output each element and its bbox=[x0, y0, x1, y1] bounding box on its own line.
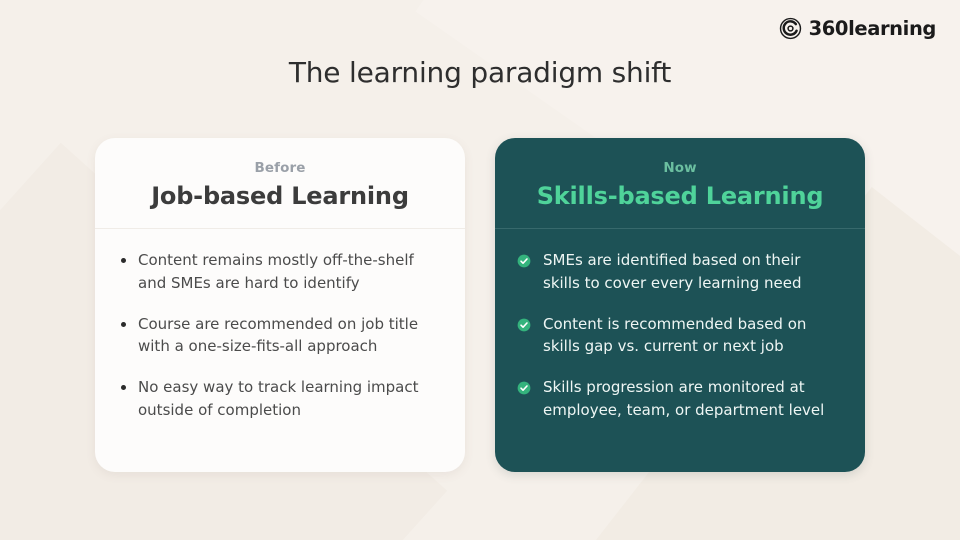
list-item: Skills progression are monitored at empl… bbox=[517, 376, 841, 422]
card-now-eyebrow: Now bbox=[515, 160, 845, 176]
logo-wordmark: 360learning bbox=[809, 19, 936, 39]
list-item: Content remains mostly off-the-shelf and… bbox=[117, 249, 441, 295]
card-before-eyebrow: Before bbox=[115, 160, 445, 176]
page-title: The learning paradigm shift bbox=[0, 56, 960, 89]
card-before-bullet-list: Content remains mostly off-the-shelf and… bbox=[117, 249, 441, 422]
bullet-dot-icon bbox=[121, 258, 126, 263]
card-before-title: Job-based Learning bbox=[115, 182, 445, 210]
check-circle-icon bbox=[517, 318, 531, 332]
list-item: Content is recommended based on skills g… bbox=[517, 313, 841, 359]
card-now-body: SMEs are identified based on their skill… bbox=[495, 229, 865, 472]
check-circle-icon bbox=[517, 254, 531, 268]
bullet-dot-icon bbox=[121, 385, 126, 390]
brand-logo: 360learning bbox=[779, 17, 936, 40]
list-item-label: SMEs are identified based on their skill… bbox=[543, 249, 841, 295]
comparison-cards: Before Job-based Learning Content remain… bbox=[0, 138, 960, 472]
list-item: SMEs are identified based on their skill… bbox=[517, 249, 841, 295]
list-item-label: Course are recommended on job title with… bbox=[138, 313, 441, 359]
card-before: Before Job-based Learning Content remain… bbox=[95, 138, 465, 472]
list-item-label: Skills progression are monitored at empl… bbox=[543, 376, 841, 422]
card-before-header: Before Job-based Learning bbox=[95, 138, 465, 229]
card-now-title: Skills-based Learning bbox=[515, 182, 845, 210]
bullet-dot-icon bbox=[121, 322, 126, 327]
list-item-label: No easy way to track learning impact out… bbox=[138, 376, 441, 422]
card-now: Now Skills-based Learning SMEs are ident… bbox=[495, 138, 865, 472]
check-circle-icon bbox=[517, 381, 531, 395]
360learning-swirl-icon bbox=[779, 17, 802, 40]
list-item: No easy way to track learning impact out… bbox=[117, 376, 441, 422]
card-now-header: Now Skills-based Learning bbox=[495, 138, 865, 229]
list-item-label: Content is recommended based on skills g… bbox=[543, 313, 841, 359]
list-item-label: Content remains mostly off-the-shelf and… bbox=[138, 249, 441, 295]
card-before-body: Content remains mostly off-the-shelf and… bbox=[95, 229, 465, 472]
list-item: Course are recommended on job title with… bbox=[117, 313, 441, 359]
card-now-bullet-list: SMEs are identified based on their skill… bbox=[517, 249, 841, 422]
